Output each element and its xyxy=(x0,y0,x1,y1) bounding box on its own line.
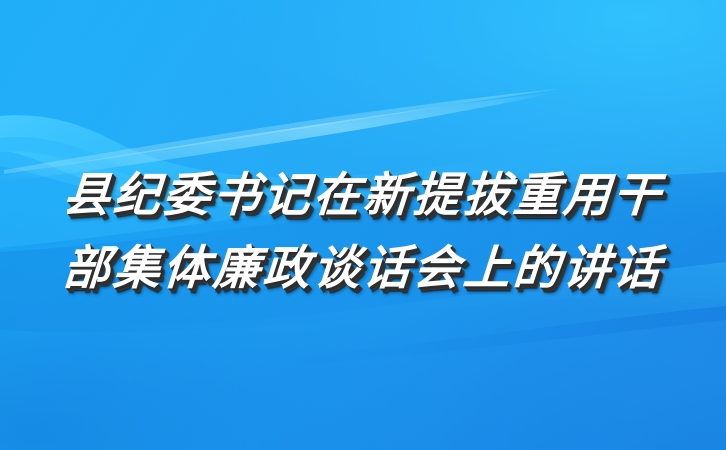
title-line-2: 部集体廉政谈话会上的讲话 xyxy=(0,233,726,305)
title-banner: 县纪委书记在新提拔重用干 部集体廉政谈话会上的讲话 xyxy=(0,0,726,450)
banner-title: 县纪委书记在新提拔重用干 部集体廉政谈话会上的讲话 xyxy=(0,160,726,305)
title-line-1: 县纪委书记在新提拔重用干 xyxy=(0,160,726,232)
